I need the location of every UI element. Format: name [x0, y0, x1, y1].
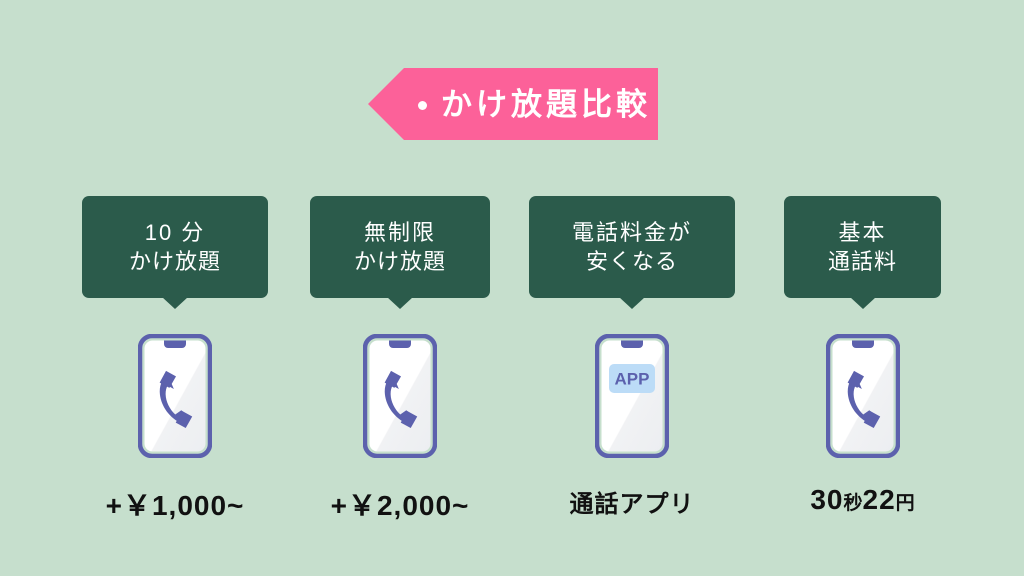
plan-label-bubble-4: 基本 通話料 [784, 196, 941, 298]
plan-label-line2: 通話料 [828, 247, 897, 276]
plan-label-bubble-3: 電話料金が 安くなる [529, 196, 735, 298]
smartphone-handset-icon [363, 334, 437, 458]
price-value: +￥1,000~ [106, 490, 245, 521]
bullet-dot-icon [418, 101, 427, 110]
caption-text: 通話アプリ [570, 491, 695, 518]
smartphone-app-icon: APP [595, 334, 669, 458]
title-banner: かけ放題比較 [368, 68, 658, 140]
phone-illustration-wrap-3: APP [529, 334, 735, 458]
plan-label-line1: 10 分 [145, 218, 206, 247]
app-badge-label: APP [615, 370, 650, 389]
comparison-column-3: 電話料金が 安くなる APP 通話アプリ [529, 196, 735, 519]
smartphone-handset-icon [138, 334, 212, 458]
plan-label-line1: 基本 [838, 218, 886, 247]
phone-illustration-wrap-1 [82, 334, 268, 458]
comparison-column-1: 10 分 かけ放題 [82, 196, 268, 524]
phone-illustration-wrap-2 [310, 334, 490, 458]
price-value: +￥2,000~ [331, 490, 470, 521]
rate-yen-value: 22 [863, 484, 896, 515]
plan-label-line1: 無制限 [364, 218, 436, 247]
plan-label-line2: 安くなる [586, 247, 678, 276]
plan-label-line2: かけ放題 [354, 247, 446, 276]
page-title: かけ放題比較 [441, 89, 651, 120]
rate-yen-unit: 円 [896, 493, 915, 514]
rate-seconds-unit: 秒 [843, 493, 862, 514]
comparison-column-4: 基本 通話料 [784, 196, 941, 516]
smartphone-handset-icon [826, 334, 900, 458]
plan-label-bubble-2: 無制限 かけ放題 [310, 196, 490, 298]
price-caption-2: +￥2,000~ [310, 484, 490, 524]
rate-seconds-value: 30 [810, 484, 843, 515]
plan-label-line2: かけ放題 [129, 247, 221, 276]
price-caption-3: 通話アプリ [529, 484, 735, 519]
plan-label-line1: 電話料金が [572, 218, 692, 247]
phone-illustration-wrap-4 [784, 334, 941, 458]
price-caption-1: +￥1,000~ [82, 484, 268, 524]
price-caption-4: 30秒22円 [784, 484, 941, 516]
comparison-column-2: 無制限 かけ放題 [310, 196, 490, 524]
plan-label-bubble-1: 10 分 かけ放題 [82, 196, 268, 298]
